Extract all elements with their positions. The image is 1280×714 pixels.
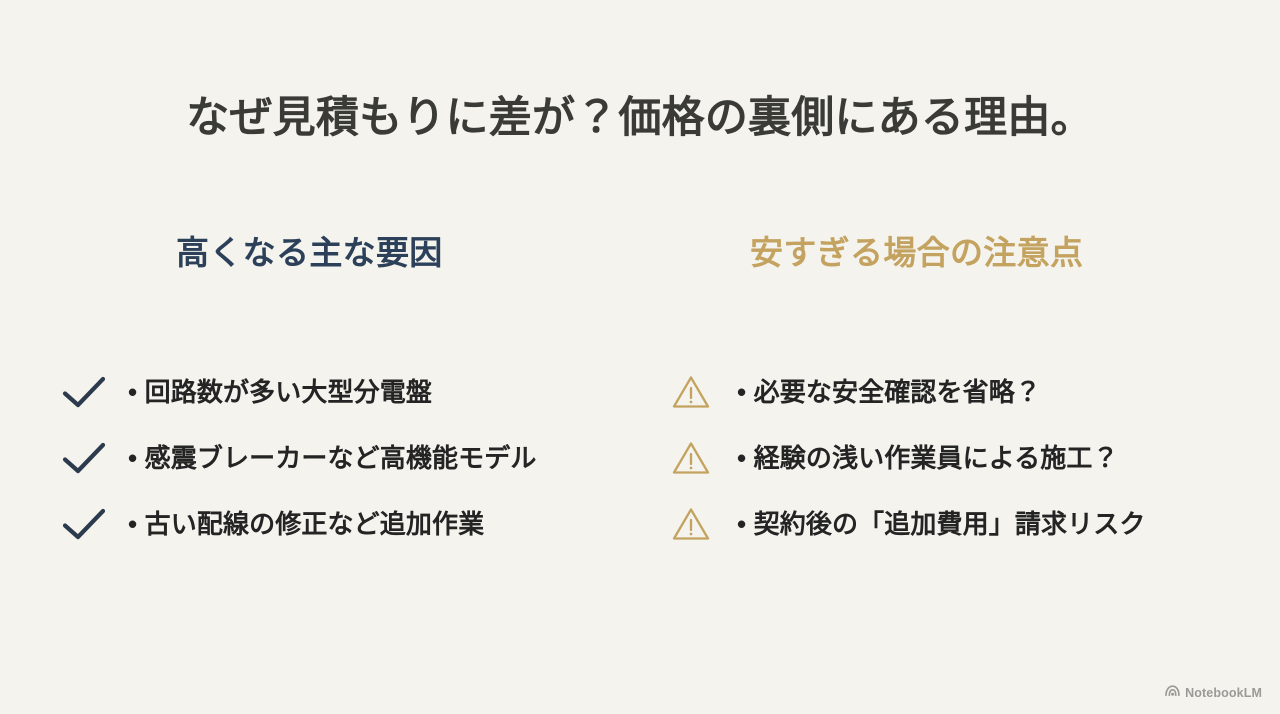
page-title: なぜ見積もりに差が？価格の裏側にある理由。 (186, 91, 1094, 146)
list-item-label: • 感震ブレーカーなど高機能モデル (112, 443, 537, 474)
title-area: なぜ見積もりに差が？価格の裏側にある理由。 (0, 62, 1280, 175)
list-item-text: 必要な安全確認を省略？ (754, 377, 1041, 407)
list-higher-cost-factors: • 回路数が多い大型分電盤 • 感震ブレーカーなど高機能モデル (56, 359, 640, 557)
list-item: • 経験の浅い作業員による施工？ (665, 425, 1280, 491)
list-item: • 古い配線の修正など追加作業 (56, 491, 640, 557)
list-item-bullet: • (128, 377, 137, 407)
check-icon (56, 502, 112, 546)
notebooklm-watermark: NotebookLM (1165, 684, 1262, 702)
list-item-text: 経験の浅い作業員による施工？ (754, 443, 1119, 473)
check-icon (56, 436, 112, 480)
list-item-bullet: • (737, 443, 746, 473)
list-item-bullet: • (737, 509, 746, 539)
warning-triangle-icon (665, 436, 717, 480)
content-columns: 高くなる主な要因 • 回路数が多い大型分電盤 (0, 232, 1280, 557)
list-item-label: • 回路数が多い大型分電盤 (112, 377, 432, 408)
column-heading-right: 安すぎる場合の注意点 (665, 232, 1280, 273)
list-item-bullet: • (128, 509, 137, 539)
slide-canvas: なぜ見積もりに差が？価格の裏側にある理由。 高くなる主な要因 • 回路数が多い大… (0, 0, 1280, 714)
list-item-label: • 古い配線の修正など追加作業 (112, 509, 484, 540)
list-item: • 契約後の「追加費用」請求リスク (665, 491, 1280, 557)
list-item-text: 古い配線の修正など追加作業 (145, 509, 485, 539)
list-item-text: 回路数が多い大型分電盤 (145, 377, 432, 407)
warning-triangle-icon (665, 502, 717, 546)
warning-triangle-icon (665, 370, 717, 414)
watermark-label: NotebookLM (1185, 686, 1262, 700)
notebooklm-logo-icon (1165, 684, 1180, 702)
column-heading-left: 高くなる主な要因 (56, 232, 640, 273)
list-item-label: • 経験の浅い作業員による施工？ (717, 443, 1119, 474)
list-item: • 必要な安全確認を省略？ (665, 359, 1280, 425)
list-item-label: • 契約後の「追加費用」請求リスク (717, 509, 1146, 540)
list-item-text: 契約後の「追加費用」請求リスク (754, 509, 1146, 539)
list-item-label: • 必要な安全確認を省略？ (717, 377, 1041, 408)
column-too-cheap-warnings: 安すぎる場合の注意点 • 必要な安全確認を省略？ (640, 232, 1280, 557)
column-higher-cost-factors: 高くなる主な要因 • 回路数が多い大型分電盤 (0, 232, 640, 557)
check-icon (56, 370, 112, 414)
list-too-cheap-warnings: • 必要な安全確認を省略？ • 経験の浅い作業員による施工？ (665, 359, 1280, 557)
list-item: • 回路数が多い大型分電盤 (56, 359, 640, 425)
list-item: • 感震ブレーカーなど高機能モデル (56, 425, 640, 491)
list-item-bullet: • (128, 443, 137, 473)
list-item-text: 感震ブレーカーなど高機能モデル (145, 443, 537, 473)
list-item-bullet: • (737, 377, 746, 407)
